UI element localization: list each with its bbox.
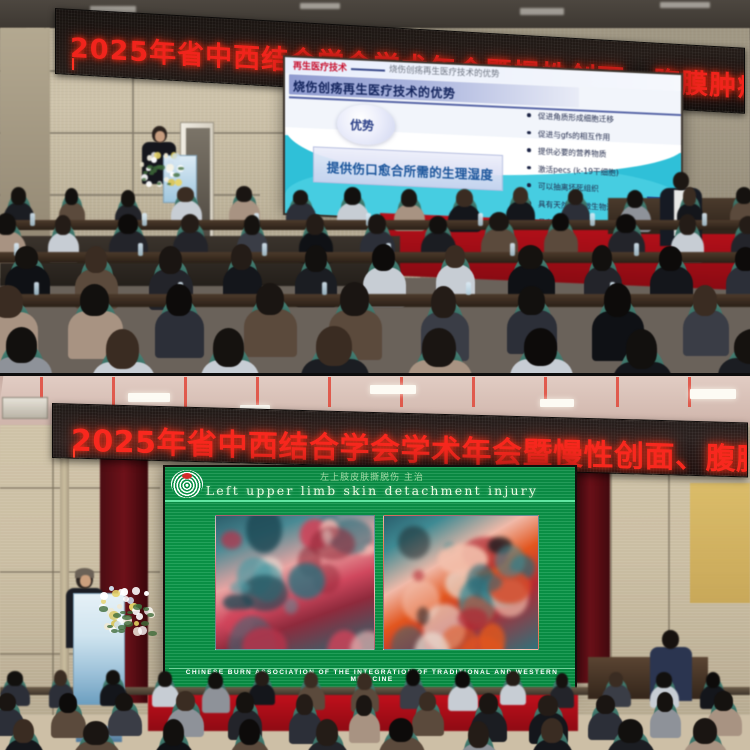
water-bottle	[634, 243, 639, 256]
flower-foliage	[113, 613, 121, 618]
audience-member-head	[80, 284, 109, 316]
lower-conference-photo: 2025年省中西结合学会学术年会暨慢性创面、腹膜肿瘤专题论坛 左上肢皮肤撕脱伤 …	[0, 375, 750, 750]
audience-member-head	[15, 246, 38, 269]
audience-member-head	[604, 283, 631, 317]
audience-lower	[0, 671, 750, 750]
audience-member-head	[158, 671, 172, 687]
slide-header-red: 再生医疗技术	[293, 58, 347, 73]
audience-member-head	[176, 691, 195, 711]
panel-divider	[0, 373, 750, 376]
audience-member-head	[456, 189, 473, 207]
audience-member-body	[155, 310, 205, 358]
slide-bullet: 激活pecs (k-19干细胞)	[525, 163, 680, 181]
audience-member-body	[544, 227, 577, 254]
green-screen-title-cn: 左上肢皮肤撕脱伤 主治	[165, 470, 577, 483]
audience-member-head	[344, 187, 361, 205]
audience-member-head	[739, 216, 750, 234]
flower-blossom	[144, 591, 149, 596]
flower-blossom	[172, 153, 180, 161]
ceiling-accent-strip	[184, 377, 187, 407]
audience-member-body	[683, 310, 729, 356]
audience-member-head	[445, 245, 465, 268]
audience-member-head	[714, 691, 733, 710]
panelist-head-lower	[662, 630, 679, 649]
audience-member-head	[118, 214, 138, 234]
audience-member-head	[11, 187, 27, 205]
audience-member-body	[108, 708, 142, 736]
flower-blossom	[121, 588, 129, 596]
flower-foliage	[142, 178, 146, 181]
podium-flowers-lower	[96, 585, 154, 643]
audience-member-head	[166, 284, 192, 316]
audience-member-head	[568, 189, 583, 205]
audience-member-head	[693, 285, 717, 316]
audience-member-head	[592, 245, 612, 270]
audience-member-head	[115, 693, 133, 712]
audience-member-body	[412, 708, 445, 737]
audience-member-head	[556, 673, 569, 688]
audience-member-head	[163, 719, 184, 745]
audience-member-head	[489, 212, 509, 231]
flower-blossom	[164, 153, 168, 157]
audience-member-head	[177, 187, 193, 203]
water-bottle	[322, 282, 327, 295]
ceiling-accent-strip	[472, 377, 475, 407]
flower-blossom	[166, 164, 174, 172]
flower-foliage	[124, 621, 133, 626]
audience-member-head	[552, 213, 569, 231]
audience-member-head	[706, 672, 720, 688]
ceiling-light	[520, 8, 564, 15]
audience-member-head	[626, 329, 657, 368]
ceiling-accent-strip	[112, 377, 115, 407]
surgical-image-region	[322, 529, 333, 545]
flower-foliage	[173, 173, 180, 177]
audience-member-body	[349, 712, 381, 743]
flower-foliage	[157, 182, 161, 184]
audience-member-head	[85, 246, 108, 273]
surgical-image-region	[230, 581, 250, 594]
audience-member-head	[13, 719, 34, 744]
flower-blossom	[175, 179, 182, 186]
audience-member-head	[293, 190, 309, 205]
flower-foliage	[118, 625, 125, 629]
flower-blossom	[132, 587, 140, 595]
flower-foliage	[133, 604, 142, 610]
audience-member-head	[54, 670, 67, 686]
audience-member-head	[455, 671, 471, 688]
audience-member-head	[419, 692, 436, 711]
audience-member-body	[244, 309, 297, 357]
audience-member-head	[468, 721, 489, 749]
water-bottle	[138, 243, 143, 256]
audience-member-head	[7, 671, 23, 686]
surgical-image-region	[417, 607, 429, 624]
audience-upper	[0, 188, 750, 375]
surgical-image-region	[495, 545, 524, 577]
audience-member-head	[357, 673, 371, 690]
audience-member-head	[596, 695, 615, 714]
audience-member-head	[627, 190, 643, 208]
surgical-image-region	[398, 526, 429, 559]
audience-member-head	[609, 672, 624, 687]
audience-member-head	[657, 692, 674, 712]
flower-foliage	[141, 621, 149, 626]
audience-member-head	[231, 244, 252, 270]
flower-foliage	[158, 165, 165, 169]
ceiling-light	[690, 389, 736, 399]
ceiling-accent-strip	[256, 377, 259, 407]
audience-member-head	[0, 693, 16, 711]
audience-member-head	[305, 245, 327, 271]
flower-blossom	[146, 181, 152, 187]
audience-member-head	[304, 672, 318, 688]
surgical-image-region	[241, 575, 288, 611]
audience-member-head	[406, 669, 420, 686]
water-bottle	[30, 213, 35, 226]
audience-member-head	[538, 695, 559, 716]
slide-circle-label: 优势	[350, 116, 374, 134]
water-bottle	[702, 213, 707, 226]
screenshot-root: 2025年省中西结合学会学术年会暨慢性创面、腹膜肿瘤专题论坛 再生医疗技术 烧伤…	[0, 0, 750, 750]
audience-member-body	[500, 683, 527, 705]
water-bottle	[34, 282, 39, 295]
ceiling-accent-strip	[328, 377, 331, 407]
audience-member-head	[239, 719, 260, 745]
audience-member-head	[429, 216, 447, 234]
audience-member-body	[51, 709, 86, 738]
audience-member-head	[479, 693, 498, 714]
podium-flowers-upper	[138, 148, 184, 188]
audience-member-head	[55, 215, 71, 235]
audience-member-head	[518, 245, 543, 270]
ceiling-light	[660, 2, 710, 8]
surgical-image-region	[479, 623, 505, 650]
water-bottle	[262, 243, 267, 256]
audience-member-head	[506, 671, 520, 686]
ceiling-light	[128, 393, 170, 402]
audience-member-head	[236, 692, 254, 713]
audience-member-head	[255, 671, 269, 685]
surgical-image-region	[471, 574, 502, 592]
ceiling-light	[300, 3, 340, 9]
audience-member-head	[236, 186, 252, 202]
audience-member-head	[316, 719, 339, 746]
surgical-image-region	[288, 563, 325, 599]
audience-member-head	[356, 695, 373, 716]
audience-member-head	[306, 214, 324, 235]
audience-table	[0, 294, 750, 308]
ceiling-light	[370, 385, 416, 394]
water-bottle	[142, 213, 147, 226]
ceiling-accent-strip	[616, 377, 619, 407]
flower-blossom	[117, 604, 122, 609]
audience-member-head	[616, 214, 636, 233]
audience-member-head	[59, 693, 78, 713]
audience-member-head	[340, 282, 368, 316]
audience-member-head	[368, 214, 386, 234]
presenter-face-upper	[155, 131, 165, 142]
audience-member-body	[650, 708, 681, 738]
flower-blossom	[134, 621, 139, 626]
audience-member-head	[121, 190, 135, 207]
audience-member-head	[316, 326, 352, 366]
surgical-image-region	[284, 598, 298, 614]
audience-member-head	[106, 670, 120, 685]
audience-member-head	[735, 247, 750, 271]
water-bottle	[466, 282, 471, 295]
slide-bullet: 促进与gfs的相互作用	[525, 128, 680, 146]
flower-foliage	[127, 611, 132, 614]
audience-member-head	[618, 719, 643, 743]
audience-member-head	[83, 721, 108, 746]
audience-member-head	[513, 187, 528, 204]
audience-member-head	[244, 215, 261, 234]
audience-member-head	[679, 214, 696, 235]
audience-member-head	[524, 328, 557, 365]
flower-blossom	[138, 626, 147, 635]
flower-foliage	[149, 172, 154, 175]
audience-member-head	[518, 286, 544, 315]
audience-member-head	[208, 672, 223, 690]
surgical-image-region	[310, 527, 354, 560]
ac-vent-lower	[2, 397, 48, 419]
audience-member-body	[448, 685, 478, 711]
audience-member-head	[656, 672, 671, 687]
surgical-image-region	[365, 545, 375, 553]
water-bottle	[478, 213, 483, 226]
audience-member-head	[541, 718, 563, 744]
audience-member-head	[6, 327, 37, 363]
water-bottle	[510, 243, 515, 256]
flower-blossom	[151, 157, 157, 163]
surgical-image-region	[246, 515, 282, 553]
audience-member-head	[389, 718, 413, 742]
green-screen-title-en: Left upper limb skin detachment injury	[165, 483, 577, 498]
audience-member-body	[202, 686, 230, 712]
ceiling-light	[540, 399, 574, 407]
flower-blossom	[123, 596, 129, 602]
flower-foliage	[99, 606, 108, 611]
surgical-image-region	[413, 570, 424, 581]
water-bottle	[590, 213, 595, 226]
flower-blossom	[140, 162, 144, 166]
audience-member-head	[422, 328, 456, 367]
audience-member-head	[296, 694, 313, 716]
audience-member-head	[372, 244, 395, 271]
audience-member-head	[736, 187, 750, 203]
flower-blossom	[100, 592, 109, 601]
flower-blossom	[112, 590, 120, 598]
slide-bullet: 提供必要的营养物质	[525, 145, 680, 163]
audience-member-head	[431, 286, 456, 318]
flower-foliage	[143, 171, 148, 174]
audience-member-head	[256, 283, 284, 315]
audience-member-head	[683, 187, 697, 206]
surgical-photo-right	[383, 515, 539, 650]
audience-member-head	[693, 718, 717, 744]
presenter-face-lower	[80, 575, 91, 587]
green-led-screen: 左上肢皮肤撕脱伤 主治 Left upper limb skin detachm…	[163, 465, 577, 692]
led-caret-upper	[72, 58, 74, 70]
flower-foliage	[111, 629, 118, 633]
audience-member-head	[213, 328, 244, 367]
audience-member-head	[0, 213, 16, 235]
audience-member-head	[181, 214, 200, 233]
audience-member-head	[159, 246, 182, 273]
led-caret-lower	[73, 449, 75, 460]
flower-foliage	[107, 625, 112, 628]
audience-member-head	[65, 188, 79, 205]
surgical-image-region	[458, 608, 488, 628]
audience-member-head	[401, 189, 417, 207]
audience-member-head	[106, 329, 139, 369]
surgical-image-region	[221, 531, 241, 549]
surgical-photo-left	[215, 515, 375, 650]
upper-conference-photo: 2025年省中西结合学会学术年会暨慢性创面、腹膜肿瘤专题论坛 再生医疗技术 烧伤…	[0, 0, 750, 375]
audience-member-head	[659, 246, 682, 271]
